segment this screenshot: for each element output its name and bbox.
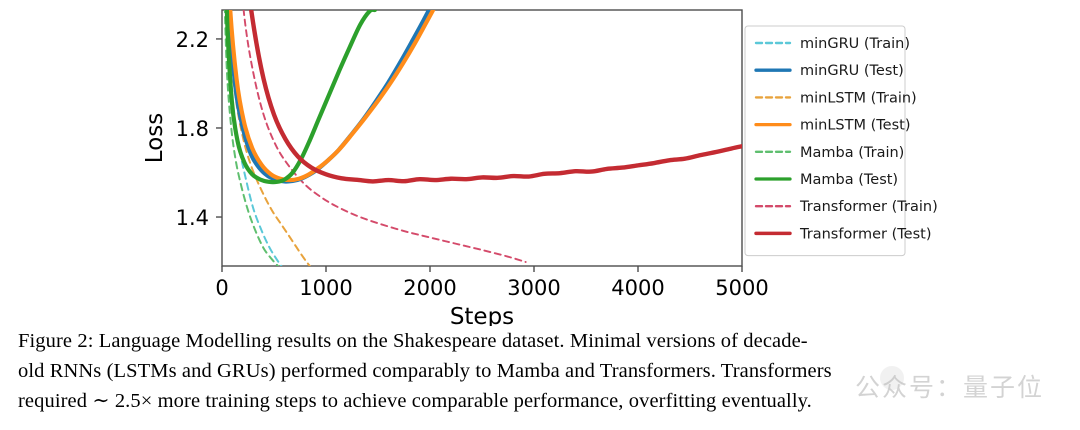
series-curve: [239, 0, 742, 181]
legend-label: Mamba (Train): [800, 145, 904, 161]
legend-label: minLSTM (Test): [800, 118, 910, 134]
legend-label: Transformer (Train): [799, 199, 938, 215]
legend-label: Transformer (Test): [799, 226, 931, 242]
figure-caption: Figure 2: Language Modelling results on …: [18, 326, 1064, 416]
x-tick-label: 3000: [507, 276, 560, 300]
x-tick-label: 0: [215, 276, 228, 300]
legend-label: Mamba (Test): [800, 172, 898, 188]
legend-label: minGRU (Train): [800, 36, 910, 52]
x-axis-title: Steps: [450, 304, 514, 326]
x-tick-label: 4000: [611, 276, 664, 300]
caption-line-3: required ∼ 2.5× more training steps to a…: [18, 386, 1064, 416]
caption-line-2: old RNNs (LSTMs and GRUs) performed comp…: [18, 356, 1064, 386]
legend-label: minLSTM (Train): [800, 90, 917, 106]
y-tick-label: 2.2: [176, 28, 209, 52]
watermark-logo-icon: [880, 366, 904, 390]
legend-label: minGRU (Test): [800, 63, 904, 79]
caption-line-1: Figure 2: Language Modelling results on …: [18, 326, 1064, 356]
y-tick-label: 1.8: [176, 117, 209, 141]
x-tick-label: 5000: [715, 276, 768, 300]
figure-container: 0100020003000400050001.41.82.2StepsLossm…: [0, 0, 1080, 430]
chart-legend: minGRU (Train)minGRU (Test)minLSTM (Trai…: [745, 26, 938, 256]
x-tick-label: 1000: [299, 276, 352, 300]
loss-chart: 0100020003000400050001.41.82.2StepsLossm…: [0, 0, 1080, 326]
series-group: [224, 0, 742, 270]
y-tick-label: 1.4: [176, 206, 209, 230]
y-axis-title: Loss: [142, 113, 168, 163]
x-tick-label: 2000: [403, 276, 456, 300]
